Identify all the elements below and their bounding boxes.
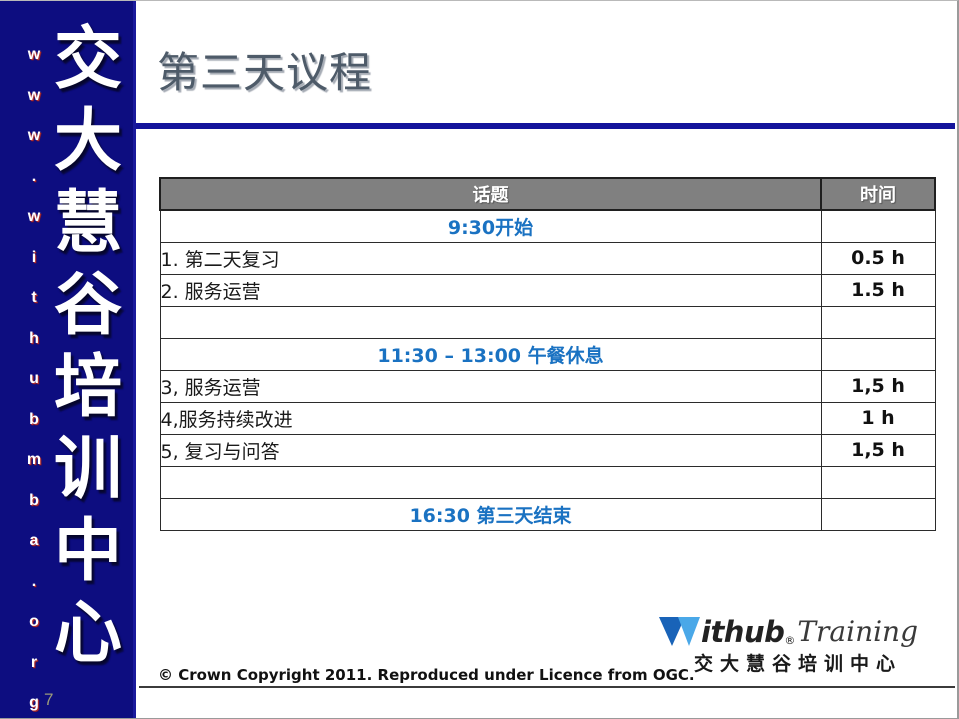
sidebar-url-char: i: [32, 238, 36, 279]
sidebar-brand-char: 心: [54, 593, 122, 675]
sidebar-url-char: w: [28, 76, 40, 117]
topic-cell: [160, 306, 821, 338]
duration-cell: 1,5 h: [821, 434, 935, 466]
topic-cell: 1. 第二天复习: [160, 242, 821, 274]
sidebar-url-char: t: [31, 278, 36, 319]
registered-trademark-icon: ®: [784, 635, 795, 647]
sidebar-url-char: r: [31, 643, 37, 684]
topic-cell: 3, 服务运营: [160, 370, 821, 402]
duration-cell: [821, 210, 935, 242]
schedule-marker-cell: 11:30 – 13:00 午餐休息: [160, 338, 821, 370]
table-row: 1. 第二天复习0.5 h: [160, 242, 935, 274]
sidebar-url-char: b: [29, 400, 39, 441]
table-header-row: 话题 时间: [160, 178, 935, 210]
sidebar-brand-char: 训: [54, 429, 122, 511]
table-row: 3, 服务运营1,5 h: [160, 370, 935, 402]
sidebar-url-char: g: [29, 683, 39, 719]
duration-cell: 1.5 h: [821, 274, 935, 306]
sidebar-brand-char: 大: [54, 101, 122, 183]
sidebar-url-char: a: [30, 521, 39, 562]
sidebar-url-char: m: [27, 440, 41, 481]
sidebar-url-char: u: [29, 359, 39, 400]
table-spacer-row: [160, 466, 935, 498]
sidebar-brand-char: 中: [54, 511, 122, 593]
sidebar-brand-char: 慧: [54, 183, 122, 265]
sidebar-url-char: w: [28, 35, 40, 76]
topic-cell: 4,服务持续改进: [160, 402, 821, 434]
column-header-time: 时间: [821, 178, 935, 210]
table-row: 2. 服务运营1.5 h: [160, 274, 935, 306]
title-area: 第三天议程: [139, 1, 957, 123]
sidebar-brand-char: 谷: [54, 265, 122, 347]
duration-cell: 1 h: [821, 402, 935, 434]
table-row: 11:30 – 13:00 午餐休息: [160, 338, 935, 370]
topic-cell: 5, 复习与问答: [160, 434, 821, 466]
agenda-table-body: 9:30开始1. 第二天复习0.5 h2. 服务运营1.5 h11:30 – 1…: [160, 210, 935, 530]
table-spacer-row: [160, 306, 935, 338]
schedule-marker-cell: 16:30 第三天结束: [160, 498, 821, 530]
duration-cell: [821, 338, 935, 370]
page-title: 第三天议程: [157, 39, 372, 100]
duration-cell: [821, 466, 935, 498]
sidebar-url-char: h: [29, 319, 39, 360]
sidebar-brand-vertical: 交大慧谷培训中心: [42, 19, 134, 675]
sidebar-url-char: o: [29, 602, 39, 643]
sidebar-url-char: b: [29, 481, 39, 522]
duration-cell: [821, 498, 935, 530]
page-number: 7: [44, 690, 53, 710]
table-row: 9:30开始: [160, 210, 935, 242]
topic-cell: 2. 服务运营: [160, 274, 821, 306]
logo-wordmark: ithub ® Training: [661, 613, 929, 647]
table-row: 4,服务持续改进1 h: [160, 402, 935, 434]
table-row: 16:30 第三天结束: [160, 498, 935, 530]
sidebar-url-char: w: [28, 116, 40, 157]
footer-divider: [139, 686, 955, 688]
duration-cell: [821, 306, 935, 338]
copyright-notice: © Crown Copyright 2011. Reproduced under…: [158, 666, 695, 684]
slide: www.withubmba.org 交大慧谷培训中心 7 第三天议程 话题 时间…: [0, 0, 959, 719]
duration-cell: 1,5 h: [821, 370, 935, 402]
logo-chinese-name: 交大慧谷培训中心: [661, 649, 929, 676]
column-header-topic: 话题: [160, 178, 821, 210]
brand-sidebar: www.withubmba.org 交大慧谷培训中心 7: [0, 1, 136, 719]
logo-w-mark-icon: [661, 614, 705, 647]
agenda-table: 话题 时间 9:30开始1. 第二天复习0.5 h2. 服务运营1.5 h11:…: [159, 177, 936, 531]
sidebar-brand-char: 交: [54, 19, 122, 101]
logo-name-sub: Training: [797, 617, 918, 647]
sidebar-brand-char: 培: [54, 347, 122, 429]
sidebar-url-char: .: [32, 157, 36, 198]
sidebar-url-char: .: [32, 562, 36, 603]
title-underline-rule: [136, 123, 955, 129]
logo-name-main: ithub: [701, 617, 784, 647]
withub-training-logo: ithub ® Training 交大慧谷培训中心: [661, 613, 929, 676]
duration-cell: 0.5 h: [821, 242, 935, 274]
table-row: 5, 复习与问答1,5 h: [160, 434, 935, 466]
schedule-marker-cell: 9:30开始: [160, 210, 821, 242]
topic-cell: [160, 466, 821, 498]
sidebar-url-char: w: [28, 197, 40, 238]
